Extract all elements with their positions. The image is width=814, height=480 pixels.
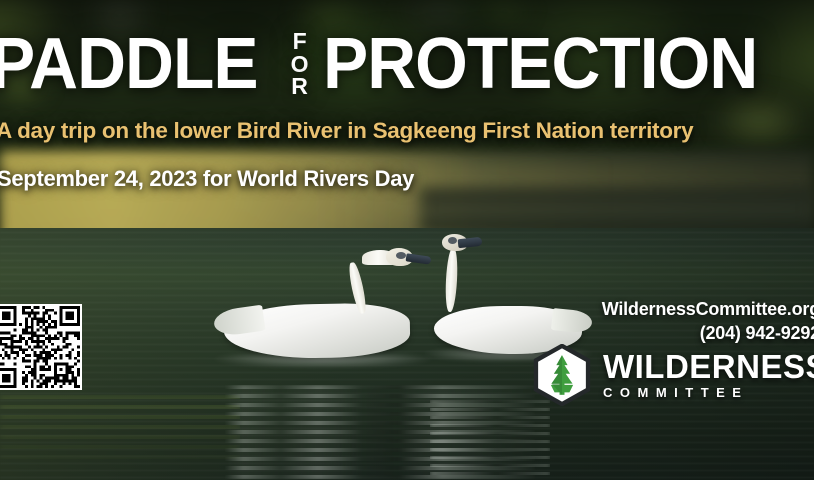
connector-letter-f: F [293,30,307,53]
logo-line-committee: COMMITTEE [603,386,814,399]
text-overlay: PADDLE F O R PROTECTION A day trip on th… [0,0,814,480]
poster-subtitle: A day trip on the lower Bird River in Sa… [0,118,693,144]
logo-wordmark: WILDERNESS COMMITTEE [603,350,814,401]
title-connector-for: F O R [291,30,309,98]
wilderness-committee-logo: WILDERNESS COMMITTEE [531,344,814,406]
title-word-protection: PROTECTION [323,31,757,97]
phone-number[interactable]: (204) 942-9292 [602,321,814,345]
connector-letter-r: R [291,75,308,98]
poster-canvas: PADDLE F O R PROTECTION A day trip on th… [0,0,814,480]
website-url[interactable]: WildernessCommittee.org [602,298,814,321]
contact-block: WildernessCommittee.org (204) 942-9292 [602,298,814,345]
connector-letter-o: O [291,53,309,76]
title-word-paddle: PADDLE [0,31,258,97]
poster-title: PADDLE F O R PROTECTION [0,28,814,100]
logo-line-wilderness: WILDERNESS [603,350,814,383]
qr-code-icon[interactable] [0,304,82,390]
poster-dateline: September 24, 2023 for World Rivers Day [0,166,414,192]
evergreen-tree-hexagon-icon [531,344,593,406]
